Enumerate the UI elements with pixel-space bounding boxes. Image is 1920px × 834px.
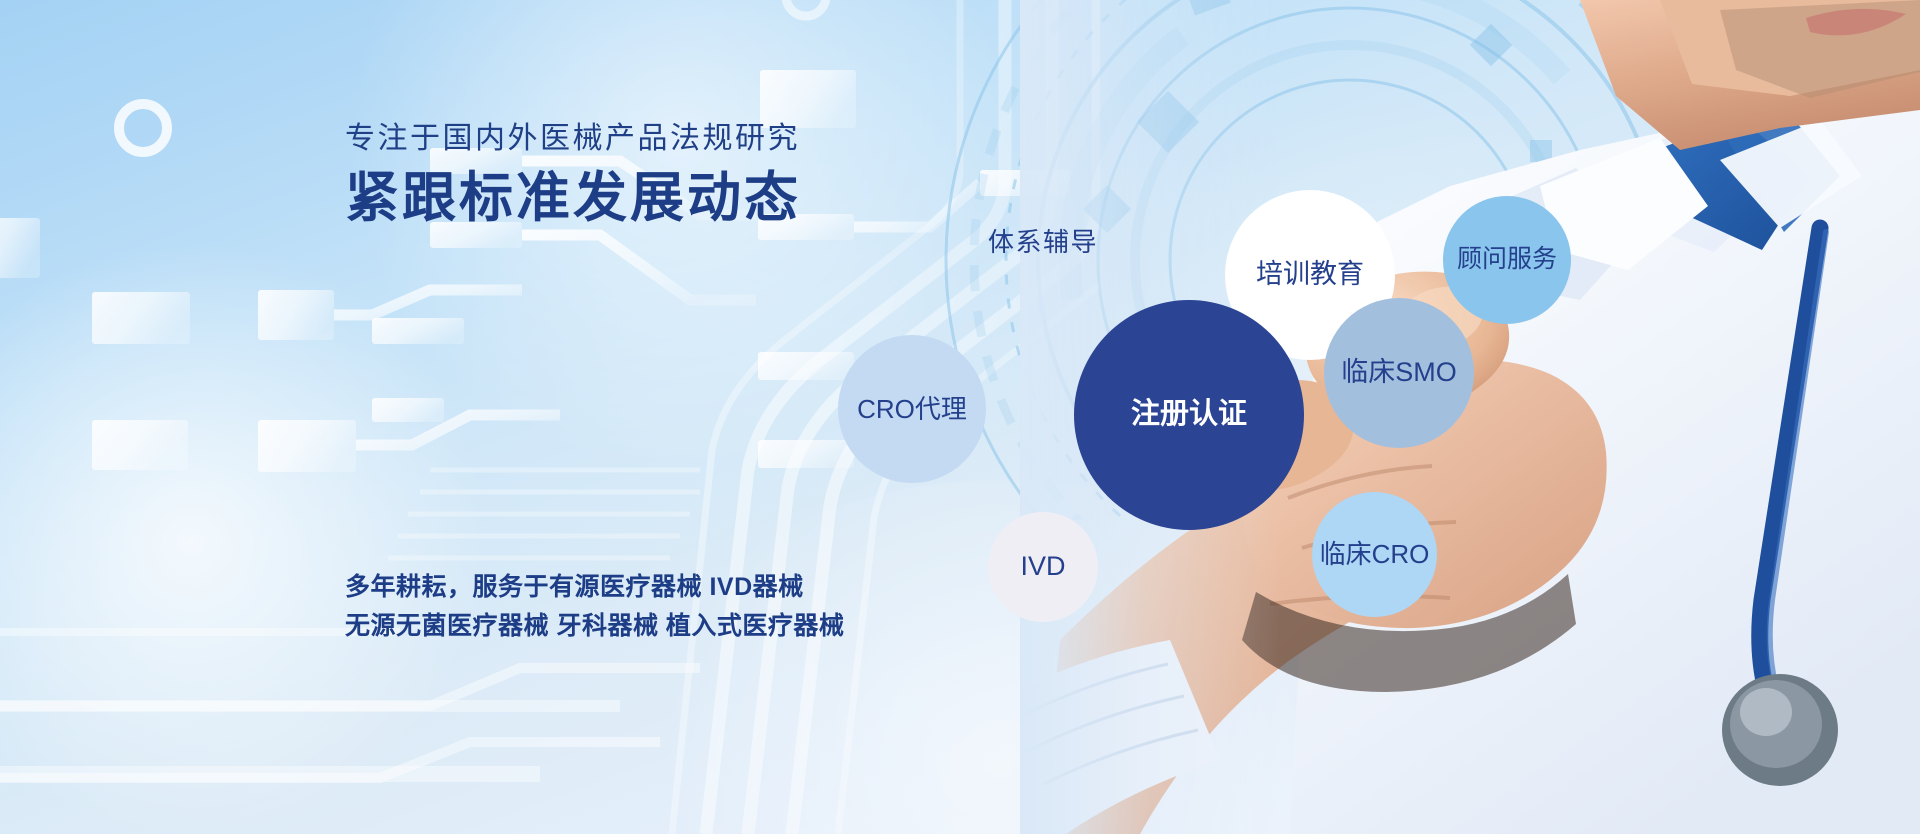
background-bloom [0, 230, 500, 834]
service-bubble-label: 临床SMO [1341, 358, 1457, 388]
service-bubble-label: 体系辅导 [988, 227, 1098, 257]
service-bubble-label: 临床CRO [1320, 540, 1430, 569]
page-title: 紧跟标准发展动态 [345, 168, 985, 228]
service-bubble-ti-xi-fu-dao[interactable]: 体系辅导 [988, 222, 1098, 259]
headline-block: 专注于国内外医械产品法规研究 紧跟标准发展动态 [345, 120, 985, 228]
service-bubble-label: 注册认证 [1131, 399, 1247, 431]
service-bubble-ivd[interactable]: IVD [988, 512, 1098, 622]
service-bubble-label: 顾问服务 [1457, 246, 1557, 274]
service-bubble-cro-dai-li[interactable]: CRO代理 [838, 335, 986, 483]
subcopy-line-1: 多年耕耘，服务于有源医疗器械 IVD器械 [345, 568, 1045, 607]
subcopy-line-2: 无源无菌医疗器械 牙科器械 植入式医疗器械 [345, 607, 1045, 646]
service-bubble-label: IVD [1020, 552, 1065, 582]
service-bubble-lin-chuang-cro[interactable]: 临床CRO [1312, 492, 1437, 617]
service-bubble-gu-wen-fu-wu[interactable]: 顾问服务 [1443, 196, 1571, 324]
service-bubble-label: CRO代理 [857, 395, 967, 424]
service-bubble-lin-chuang-smo[interactable]: 临床SMO [1324, 298, 1474, 448]
eyebrow-text: 专注于国内外医械产品法规研究 [345, 120, 985, 158]
subcopy-block: 多年耕耘，服务于有源医疗器械 IVD器械 无源无菌医疗器械 牙科器械 植入式医疗… [345, 568, 1045, 646]
service-bubble-label: 培训教育 [1256, 260, 1364, 290]
hero-banner: 专注于国内外医械产品法规研究 紧跟标准发展动态 多年耕耘，服务于有源医疗器械 I… [0, 0, 1920, 834]
service-bubble-zhu-ce-ren-zheng[interactable]: 注册认证 [1074, 300, 1304, 530]
